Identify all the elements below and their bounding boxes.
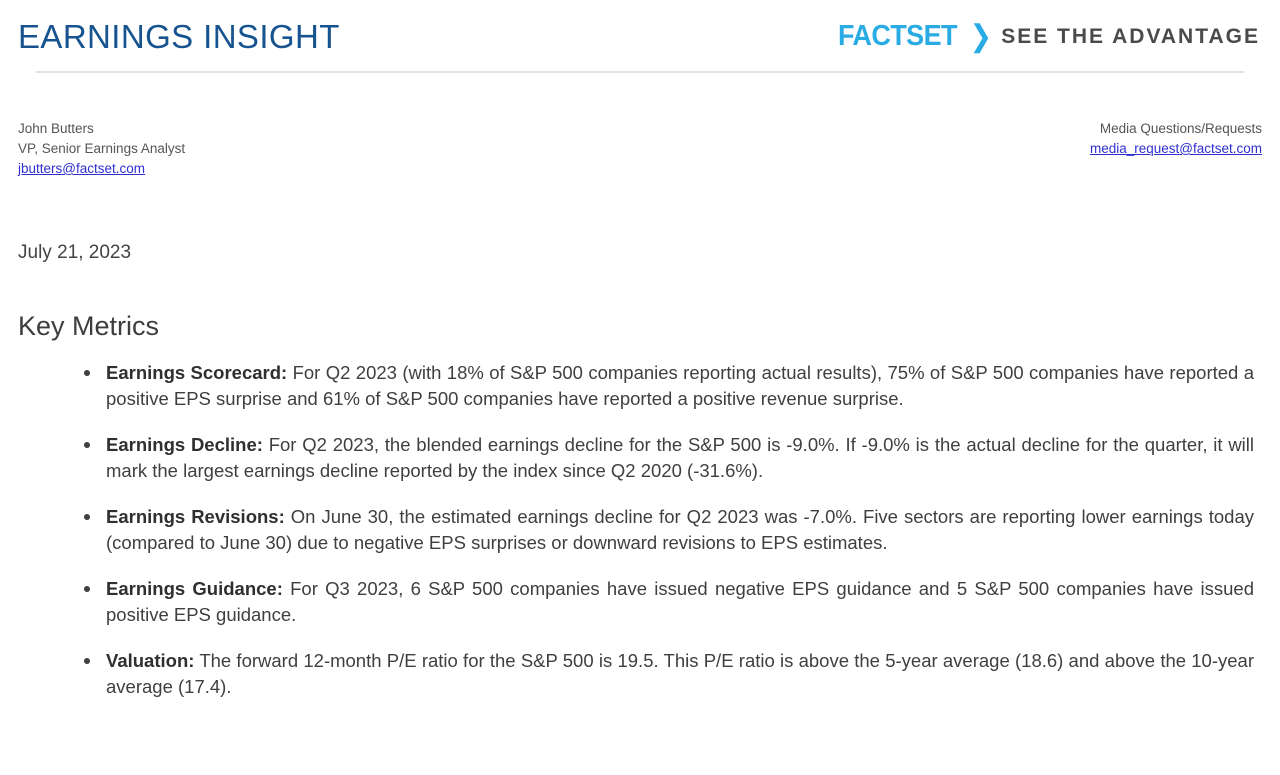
- document-date: July 21, 2023: [18, 242, 1262, 265]
- metric-label: Earnings Decline:: [106, 434, 263, 455]
- contact-block: John Butters VP, Senior Earnings Analyst…: [18, 119, 1262, 179]
- list-item: Earnings Revisions: On June 30, the esti…: [18, 504, 1262, 556]
- factset-logo: FACTSET ❯ SEE THE ADVANTAGE: [838, 22, 1262, 51]
- metric-text: The forward 12-month P/E ratio for the S…: [106, 650, 1254, 697]
- metric-label: Valuation:: [106, 650, 194, 671]
- factset-wordmark: FACTSET: [838, 22, 957, 51]
- bullet-icon: [84, 514, 90, 520]
- list-item: Earnings Decline: For Q2 2023, the blend…: [18, 432, 1262, 484]
- list-item: Earnings Guidance: For Q3 2023, 6 S&P 50…: [18, 576, 1262, 628]
- metric-label: Earnings Scorecard:: [106, 362, 287, 383]
- media-email-link[interactable]: media_request@factset.com: [1090, 139, 1262, 159]
- analyst-contact: John Butters VP, Senior Earnings Analyst…: [18, 119, 185, 179]
- media-contact-label: Media Questions/Requests: [1090, 119, 1262, 139]
- analyst-role: VP, Senior Earnings Analyst: [18, 139, 185, 159]
- list-item: Valuation: The forward 12-month P/E rati…: [18, 648, 1262, 700]
- brand-tagline: SEE THE ADVANTAGE: [1001, 26, 1260, 47]
- chevron-right-icon: ❯: [970, 21, 993, 51]
- list-item: Earnings Scorecard: For Q2 2023 (with 18…: [18, 360, 1262, 412]
- analyst-name: John Butters: [18, 119, 185, 139]
- metric-label: Earnings Revisions:: [106, 506, 285, 527]
- media-contact: Media Questions/Requests media_request@f…: [1090, 119, 1262, 159]
- bullet-icon: [84, 658, 90, 664]
- document-page: EARNINGS INSIGHT FACTSET ❯ SEE THE ADVAN…: [0, 0, 1280, 775]
- document-header: EARNINGS INSIGHT FACTSET ❯ SEE THE ADVAN…: [18, 0, 1262, 73]
- metric-label: Earnings Guidance:: [106, 578, 283, 599]
- metric-text: For Q2 2023, the blended earnings declin…: [106, 434, 1254, 481]
- bullet-icon: [84, 586, 90, 592]
- page-title: EARNINGS INSIGHT: [18, 20, 340, 53]
- key-metrics-list: Earnings Scorecard: For Q2 2023 (with 18…: [18, 360, 1262, 700]
- section-heading: Key Metrics: [18, 310, 1262, 342]
- header-divider: [36, 71, 1244, 73]
- bullet-icon: [84, 370, 90, 376]
- bullet-icon: [84, 442, 90, 448]
- analyst-email-link[interactable]: jbutters@factset.com: [18, 159, 185, 179]
